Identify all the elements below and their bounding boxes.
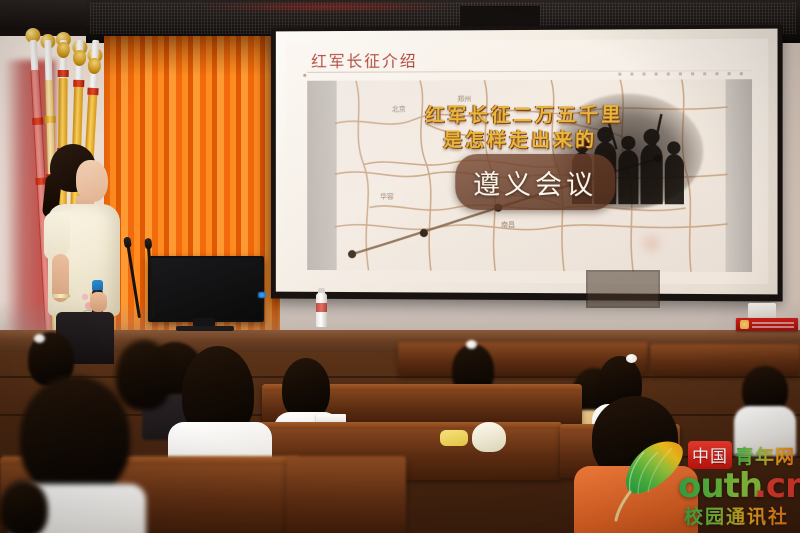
slide-title-dot [303,74,306,77]
ginkgo-leaf-icon [604,430,688,522]
bench-back-rail [232,422,562,429]
plush-toy-body [440,430,468,446]
map-city-label: 南昌 [501,220,515,230]
watermark-subbrand: 校园通讯社 [684,502,789,529]
watermark-brand-box: 中国 [688,441,732,469]
hair-scrunchie [34,334,45,343]
watermark-brand: 中国 青年网 [688,442,795,468]
ceiling-left [0,0,88,30]
watermark: 中国 青年网 outh .cn 校园通讯社 [604,424,800,533]
pole-tassel [87,58,101,75]
map-city-label: 郑州 [457,94,471,104]
pole-tassel [73,50,86,66]
projection-screen: 红军长征介绍 [271,24,783,301]
map-gutter-left [307,81,336,270]
projector-glare [638,230,664,256]
pole-tassel [57,42,70,58]
presenter-bracelet [52,294,70,298]
monitor-power-led [258,292,266,298]
led-glow [196,3,456,11]
slide-headline-1: 红军长征二万五千里 [425,100,623,127]
slide-map-panel: 红军长征二万五千里 是怎样走出来的 遵义会议 北京 郑州 华容 南昌 [307,79,752,272]
presenter-sleeve [44,212,70,260]
plush-toy [472,422,506,452]
presentation-slide: 红军长征介绍 [286,39,769,285]
map-city-label: 北京 [392,104,406,114]
podium-monitor [148,256,264,322]
slide-title: 红军长征介绍 [311,48,417,72]
hair-scrunchie [466,340,477,349]
slide-dot-row [618,72,750,76]
watermark-brand-rest: 青年网 [735,442,795,469]
hair-scrunchie [626,354,637,363]
slide-pill-label: 遵义会议 [455,154,615,210]
bench-row [286,456,406,533]
map-city-label: 华容 [380,192,394,202]
screen-border: 红军长征介绍 [276,29,778,295]
photo-scene: 红军长征介绍 [0,0,800,533]
watermark-domain-suffix: .cn [754,466,800,506]
slide-headline-2: 是怎样走出来的 [443,125,597,152]
bottle-label [316,303,327,312]
presenter-hand [90,292,107,312]
map-gutter-right [726,79,752,272]
sign-text-lines [752,321,794,328]
sign-emblem-icon [740,320,749,329]
watermark-domain: outh [678,466,762,506]
presenter [38,142,146,362]
